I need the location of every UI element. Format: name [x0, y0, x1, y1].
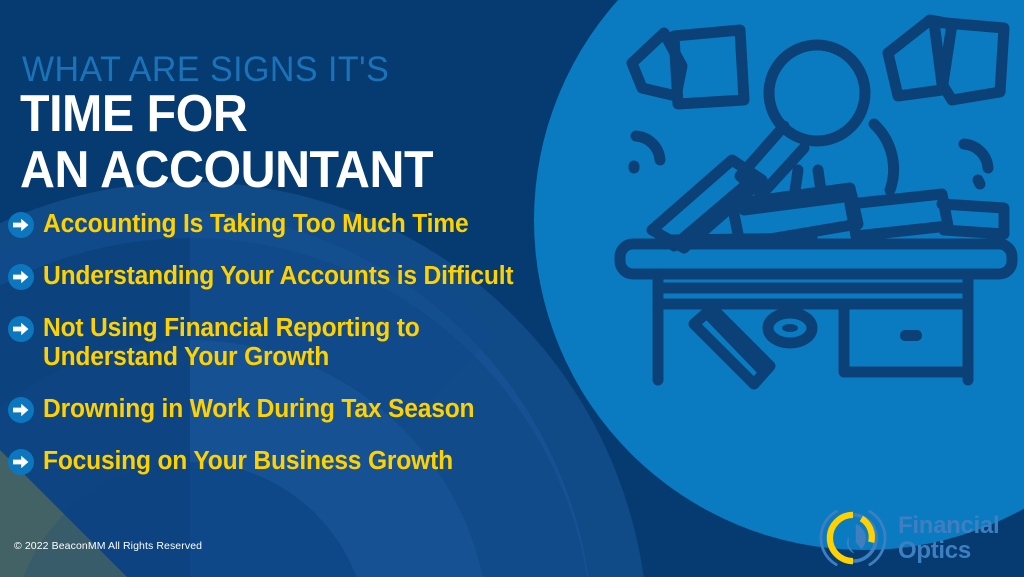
copyright-text: © 2022 BeaconMM All Rights Reserved — [14, 540, 202, 552]
list-item-label: Understanding Your Accounts is Difficult — [43, 262, 513, 291]
list-item-label: Drowning in Work During Tax Season — [43, 395, 474, 424]
list-item: Focusing on Your Business Growth — [8, 447, 688, 476]
brand-logo: Financial Optics — [818, 503, 999, 573]
list-item-line-2: Understand Your Growth — [43, 343, 420, 372]
signs-list: Accounting Is Taking Too Much Time Under… — [8, 210, 688, 499]
list-item-line-1: Not Using Financial Reporting to — [43, 314, 420, 342]
page-title: TIME FOR AN ACCOUNTANT — [20, 86, 433, 198]
brand-name-line-2: Optics — [898, 538, 999, 563]
list-item: Not Using Financial Reporting to Underst… — [8, 314, 688, 372]
list-item-line-1: Understanding Your Accounts is Difficult — [43, 262, 513, 290]
list-item: Drowning in Work During Tax Season — [8, 395, 688, 424]
eyebrow-text: WHAT ARE SIGNS IT'S — [22, 50, 389, 90]
list-item: Accounting Is Taking Too Much Time — [8, 210, 688, 239]
headline-line-2: AN ACCOUNTANT — [20, 142, 433, 198]
list-item: Understanding Your Accounts is Difficult — [8, 262, 688, 291]
brand-name-line-1: Financial — [898, 513, 999, 538]
arrow-right-circle-icon — [8, 264, 34, 290]
list-item-line-1: Accounting Is Taking Too Much Time — [43, 210, 468, 238]
infographic-poster: WHAT ARE SIGNS IT'S TIME FOR AN ACCOUNTA… — [0, 0, 1024, 577]
arrow-right-circle-icon — [8, 316, 34, 342]
list-item-line-1: Drowning in Work During Tax Season — [43, 395, 474, 423]
list-item-label: Accounting Is Taking Too Much Time — [43, 210, 468, 239]
list-item-label: Focusing on Your Business Growth — [43, 447, 453, 476]
financial-optics-aperture-icon — [818, 503, 888, 573]
list-item-label: Not Using Financial Reporting to Underst… — [43, 314, 420, 372]
arrow-right-circle-icon — [8, 449, 34, 475]
headline-line-1: TIME FOR — [20, 85, 247, 143]
list-item-line-1: Focusing on Your Business Growth — [43, 447, 453, 475]
arrow-right-circle-icon — [8, 397, 34, 423]
brand-name: Financial Optics — [898, 513, 999, 563]
arrow-right-circle-icon — [8, 212, 34, 238]
